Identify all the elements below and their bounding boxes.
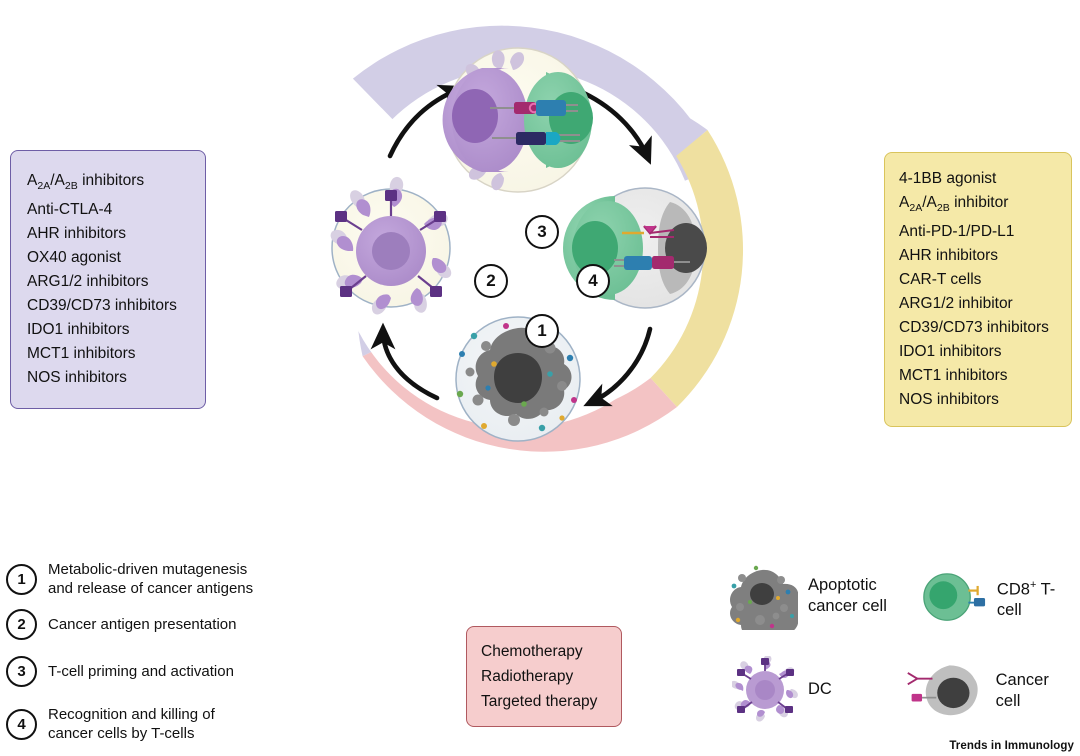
conventional-therapy-panel: Chemotherapy Radiotherapy Targeted thera… — [466, 626, 622, 727]
right-panel-item-7: IDO1 inhibitors — [899, 340, 1059, 364]
therapy-item-2: Targeted therapy — [481, 689, 607, 714]
list-item: 3 T-cell priming and activation — [6, 656, 306, 687]
apoptotic-cancer-cell-icon — [726, 562, 798, 630]
legend-cd8-t-cell: CD8+ T-cell — [922, 570, 1074, 626]
step-label-4: Recognition and killing of cancer cells … — [48, 705, 215, 743]
right-panel-item-4: CAR-T cells — [899, 268, 1059, 292]
dc-nucleus — [452, 89, 498, 143]
right-panel-item-3: AHR inhibitors — [899, 244, 1059, 268]
legend-apoptotic-line2: cancer cell — [808, 596, 887, 617]
step-label-2: Cancer antigen presentation — [48, 615, 236, 634]
right-immunotherapy-panel: 4-1BB agonist A2A/A2B inhibitor Anti-PD-… — [884, 152, 1072, 427]
right-panel-item-9: NOS inhibitors — [899, 388, 1059, 412]
step-badge-3: 3 — [6, 656, 37, 687]
list-item: 2 Cancer antigen presentation — [6, 609, 306, 640]
therapy-item-0: Chemotherapy — [481, 639, 607, 664]
dendritic-cell-icon — [732, 656, 798, 722]
legend-apoptotic-label: Apoptotic cancer cell — [808, 575, 887, 617]
left-panel-item-5: CD39/CD73 inhibitors — [27, 294, 191, 318]
right-panel-item-5: ARG1/2 inhibitor — [899, 292, 1059, 316]
legend-apoptotic-cancer-cell: Apoptotic cancer cell — [726, 562, 887, 630]
left-panel-item-8: NOS inhibitors — [27, 366, 191, 390]
left-panel-item-0: A2A/A2B inhibitors — [27, 169, 191, 198]
left-panel-item-4: ARG1/2 inhibitors — [27, 270, 191, 294]
step-badge-1: 1 — [6, 564, 37, 595]
left-immunotherapy-panel: A2A/A2B inhibitors Anti-CTLA-4 AHR inhib… — [10, 150, 206, 409]
right-panel-item-6: CD39/CD73 inhibitors — [899, 316, 1059, 340]
legend-cancer-cell-label: Cancer cell — [996, 670, 1074, 712]
right-panel-item-2: Anti-PD-1/PD-L1 — [899, 220, 1059, 244]
list-item: 4 Recognition and killing of cancer cell… — [6, 705, 306, 743]
dc-cell-nucleus — [372, 232, 410, 270]
step-label-1: Metabolic-driven mutagenesis and release… — [48, 560, 253, 598]
cycle-number-left[interactable]: 2 — [474, 264, 508, 298]
right-panel-item-0: 4-1BB agonist — [899, 167, 1059, 191]
left-panel-item-6: IDO1 inhibitors — [27, 318, 191, 342]
right-panel-item-1: A2A/A2B inhibitor — [899, 191, 1059, 220]
journal-credit: Trends in Immunology — [949, 740, 1074, 752]
legend-cd8-label: CD8+ T-cell — [997, 575, 1074, 622]
legend-dc-label: DC — [808, 679, 832, 700]
right-panel-item-8: MCT1 inhibitors — [899, 364, 1059, 388]
cancer-immunity-cycle-diagram — [278, 8, 758, 488]
cycle-steps-legend: 1 Metabolic-driven mutagenesis and relea… — [6, 560, 306, 754]
list-item: 1 Metabolic-driven mutagenesis and relea… — [6, 560, 306, 598]
left-panel-item-3: OX40 agonist — [27, 246, 191, 270]
cycle-number-top[interactable]: 3 — [525, 215, 559, 249]
step-label-4-line2: cancer cells by T-cells — [48, 724, 215, 743]
step-label-3: T-cell priming and activation — [48, 662, 234, 681]
cd8-t-cell-icon — [922, 570, 987, 626]
cycle-number-bottom[interactable]: 1 — [525, 314, 559, 348]
cell-type-legend: Apoptotic cancer cell CD8+ T-cell — [726, 556, 1074, 726]
legend-apoptotic-line1: Apoptotic — [808, 575, 887, 596]
step-badge-4: 4 — [6, 709, 37, 740]
apoptotic-cell-core — [494, 353, 542, 403]
left-panel-item-7: MCT1 inhibitors — [27, 342, 191, 366]
cycle-number-right[interactable]: 4 — [576, 264, 610, 298]
legend-dendritic-cell: DC — [732, 656, 832, 722]
step-label-4-line1: Recognition and killing of — [48, 705, 215, 724]
step-1-cell-bubble — [456, 317, 580, 441]
step-label-1-line1: Metabolic-driven mutagenesis — [48, 560, 253, 579]
left-panel-item-1: Anti-CTLA-4 — [27, 198, 191, 222]
step-badge-2: 2 — [6, 609, 37, 640]
therapy-item-1: Radiotherapy — [481, 664, 607, 689]
cancer-cell-icon — [904, 660, 986, 722]
step-label-1-line2: and release of cancer antigens — [48, 579, 253, 598]
legend-cancer-cell: Cancer cell — [904, 660, 1074, 722]
left-panel-item-2: AHR inhibitors — [27, 222, 191, 246]
